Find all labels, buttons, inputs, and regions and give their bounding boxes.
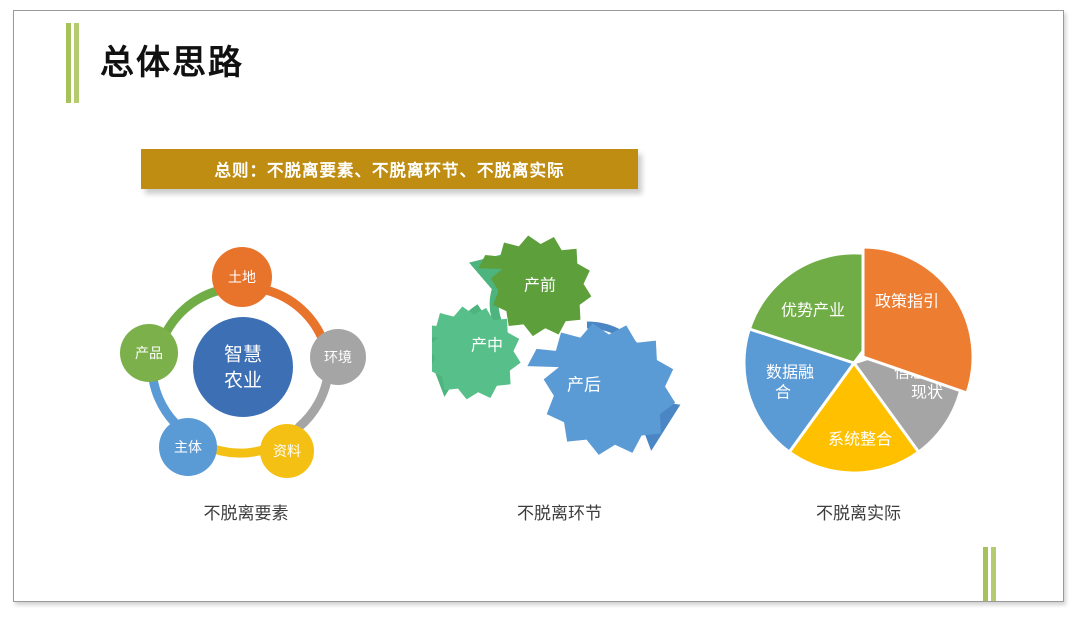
corner-bar-left [983, 547, 988, 601]
gears-svg: 产前 产中 产后 [432, 233, 687, 488]
page-title: 总体思路 [100, 35, 244, 84]
title-accent-bars [66, 23, 83, 103]
pie-label-4: 优势产业 [781, 302, 845, 320]
gear-label-0: 产前 [524, 277, 556, 295]
slide-canvas: 总体思路 总则：不脱离要素、不脱离环节、不脱离实际 智慧 农业 [13, 10, 1064, 602]
gear-产后-shape [527, 323, 675, 455]
figure-cycle-diagram: 智慧 农业 土地 环境 资料 主体 产品 [116, 233, 376, 488]
cycle-node-label-1: 环境 [324, 349, 352, 365]
cycle-svg: 智慧 农业 土地 环境 资料 主体 产品 [116, 233, 376, 488]
principle-banner: 总则：不脱离要素、不脱离环节、不脱离实际 [141, 149, 638, 189]
caption-cycle: 不脱离要素 [116, 499, 376, 524]
cycle-center-label-line1: 智慧 [224, 344, 262, 366]
caption-pie: 不脱离实际 [726, 499, 991, 524]
corner-bar-right [991, 547, 996, 601]
pie-label-3b: 合 [775, 384, 791, 402]
gear-label-2: 产后 [567, 376, 601, 395]
pie-label-1b: 现状 [911, 384, 943, 402]
accent-bar-left [66, 23, 71, 103]
gear-产中[interactable]: 产中 [432, 307, 521, 400]
cycle-node-label-0: 土地 [228, 269, 256, 285]
accent-bar-right [74, 23, 79, 103]
caption-gears: 不脱离环节 [432, 499, 687, 524]
figure-pie-chart: 信息化 系统整合 数据融 优势产业 政策指引 现状 [726, 233, 991, 488]
cycle-node-label-2: 资料 [273, 443, 301, 459]
gear-label-1: 产中 [471, 337, 503, 355]
pie-label-3a: 数据融 [766, 364, 814, 382]
cycle-node-label-3: 主体 [174, 439, 202, 455]
corner-accent-bars [983, 547, 1000, 601]
pie-label-2: 系统整合 [828, 431, 892, 449]
pie-label-0: 政策指引 [875, 293, 939, 311]
cycle-center-label-line2: 农业 [224, 370, 262, 392]
cycle-center-circle [193, 317, 293, 417]
arc-gray [299, 375, 328, 427]
gear-产后[interactable]: 产后 [527, 323, 675, 455]
pie-svg: 信息化 系统整合 数据融 优势产业 政策指引 现状 [726, 233, 991, 488]
figure-gears-diagram: 产前 产中 产后 [432, 233, 687, 488]
cycle-node-label-4: 产品 [135, 345, 163, 361]
